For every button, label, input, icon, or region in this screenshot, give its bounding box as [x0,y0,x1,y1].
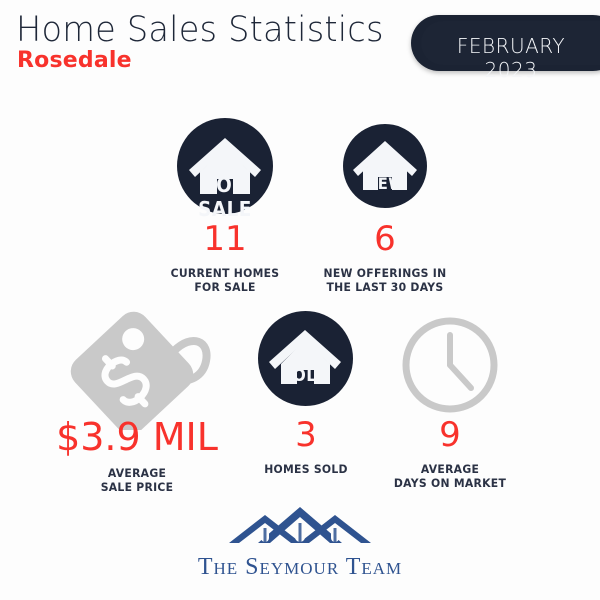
page-title: Home Sales Statistics [16,10,384,50]
stat-average-days-on-market: 9 AVERAGE DAYS ON MARKET [370,418,530,491]
stat-label-new-offerings-line2: THE LAST 30 DAYS [310,280,460,294]
stat-label-average-days-on-market-line2: DAYS ON MARKET [375,476,525,490]
sold-house-icon: SOLD [258,311,353,406]
new-house-icon: NEW [343,124,427,208]
stat-value-average-days-on-market: 9 [370,418,530,452]
stat-value-homes-sold: 3 [226,418,386,452]
stat-label-current-homes-for-sale-line1: CURRENT HOMES [150,266,300,280]
new-house-glyph [343,124,427,208]
stat-value-current-homes-for-sale: 11 [145,222,305,256]
neighborhood-subtitle: Rosedale [17,48,132,73]
sold-house-glyph [258,311,353,406]
stat-new-offerings: 6 NEW OFFERINGS IN THE LAST 30 DAYS [305,222,465,295]
date-badge: FEBRUARY 2023 [411,15,600,71]
home-sales-statistics-infographic: Home Sales Statistics Rosedale FEBRUARY … [0,0,600,600]
brand-name: The Seymour Team [0,554,600,581]
stat-label-average-days-on-market-line1: AVERAGE [375,462,525,476]
stat-value-average-sale-price: $3.9 MIL [47,418,227,456]
price-tag-glyph [70,305,215,430]
stat-average-sale-price: $3.9 MIL AVERAGE SALE PRICE [47,418,227,495]
header: Home Sales Statistics Rosedale FEBRUARY … [0,0,600,90]
price-tag-icon [70,305,215,430]
for-sale-house-icon: FOR SALE [177,118,273,214]
three-roofs-icon [225,505,375,547]
date-badge-inner-panel: FEBRUARY 2023 [421,21,600,65]
stat-value-new-offerings: 6 [305,222,465,256]
sold-icon-text: SOLD [262,366,349,386]
stat-label-average-sale-price-line1: AVERAGE [52,466,221,480]
stat-label-current-homes-for-sale-line2: FOR SALE [150,280,300,294]
date-month: FEBRUARY [421,34,600,58]
clock-icon [399,314,501,416]
date-year: 2023 [421,58,600,82]
brand-logo: The Seymour Team [0,505,600,581]
clock-glyph [399,314,501,416]
stat-label-new-offerings-line1: NEW OFFERINGS IN [310,266,460,280]
for-sale-icon-text: FOR SALE [175,173,274,221]
stat-current-homes-for-sale: 11 CURRENT HOMES FOR SALE [145,222,305,295]
stat-label-homes-sold-line1: HOMES SOLD [231,462,381,476]
stat-label-average-sale-price-line2: SALE PRICE [52,480,221,494]
stat-homes-sold: 3 HOMES SOLD [226,418,386,476]
new-icon-text: NEW [346,174,423,193]
